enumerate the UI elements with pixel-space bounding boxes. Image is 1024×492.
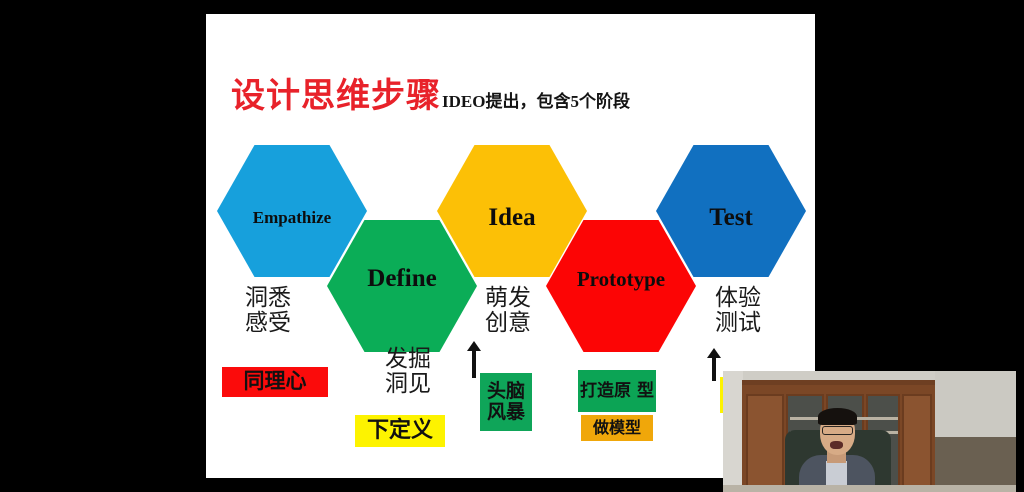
chip-build-prototype: 打造原 型 (578, 370, 656, 412)
hexagon-label-prototype: Prototype (565, 268, 677, 290)
hexagon-label-idea: Idea (482, 205, 541, 231)
participant-video-tile[interactable] (723, 371, 1016, 492)
caption-define: 发掘 洞见 (356, 347, 460, 397)
chip-make-model: 做模型 (581, 415, 653, 441)
chip-brainstorm: 头脑 风暴 (480, 373, 532, 431)
up-arrow-icon-idea (712, 357, 716, 381)
page-title: 设计思维步骤 (231, 76, 441, 116)
glasses-icon (822, 426, 853, 435)
video-background-shadow (935, 437, 1016, 492)
speaker-mouth (830, 441, 843, 449)
bookcase-door (902, 394, 932, 492)
speaker-hair (818, 408, 857, 425)
screen-root: 设计思维步骤IDEO提出，包含5个阶段 Empathize Define Ide… (0, 0, 1024, 492)
chip-empathy: 同理心 (222, 367, 328, 397)
video-background-wall-left (723, 371, 743, 492)
hexagon-label-define: Define (361, 266, 442, 292)
slide-title: 设计思维步骤IDEO提出，包含5个阶段 (231, 68, 630, 117)
caption-idea: 萌发 创意 (456, 286, 560, 336)
hexagon-label-test: Test (703, 205, 759, 231)
chip-define: 下定义 (355, 415, 445, 447)
video-floor (723, 485, 1016, 492)
caption-test: 体验 测试 (686, 286, 790, 336)
hexagon-label-empathize: Empathize (247, 209, 337, 227)
caption-empathize: 洞悉 感受 (216, 286, 320, 336)
bookcase-door (746, 394, 784, 492)
page-subtitle: IDEO提出，包含5个阶段 (442, 92, 630, 111)
up-arrow-icon-empathize (472, 350, 476, 378)
